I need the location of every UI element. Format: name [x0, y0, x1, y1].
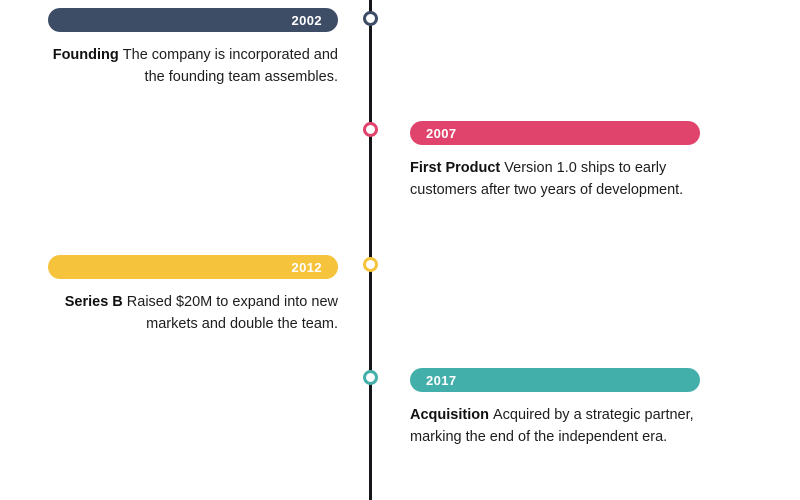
year-label: 2007 — [426, 127, 457, 140]
timeline-entry-2002[interactable]: 2002 Founding The company is incorporate… — [48, 8, 338, 88]
entry-body: Founding The company is incorporated and… — [48, 45, 338, 88]
timeline-entry-2007[interactable]: 2007 First Product Version 1.0 ships to … — [410, 121, 700, 201]
timeline-node-2002[interactable] — [363, 11, 378, 26]
entry-body: Series B Raised $20M to expand into new … — [48, 292, 338, 335]
entry-title: Series B — [65, 294, 127, 310]
entry-body: First Product Version 1.0 ships to early… — [410, 158, 700, 201]
year-pill-2017[interactable]: 2017 — [410, 368, 700, 392]
entry-body: Acquisition Acquired by a strategic part… — [410, 405, 700, 448]
year-label: 2012 — [291, 261, 322, 274]
year-label: 2002 — [291, 14, 322, 27]
year-pill-2012[interactable]: 2012 — [48, 255, 338, 279]
entry-title: First Product — [410, 160, 504, 176]
year-pill-2007[interactable]: 2007 — [410, 121, 700, 145]
timeline-axis — [369, 0, 372, 500]
year-label: 2017 — [426, 374, 457, 387]
year-pill-2002[interactable]: 2002 — [48, 8, 338, 32]
entry-description: The company is incorporated and the foun… — [123, 47, 338, 85]
timeline-node-2007[interactable] — [363, 122, 378, 137]
entry-title: Acquisition — [410, 407, 493, 423]
timeline-entry-2017[interactable]: 2017 Acquisition Acquired by a strategic… — [410, 368, 700, 448]
timeline-entry-2012[interactable]: 2012 Series B Raised $20M to expand into… — [48, 255, 338, 335]
entry-title: Founding — [53, 47, 123, 63]
timeline-node-2012[interactable] — [363, 257, 378, 272]
entry-description: Raised $20M to expand into new markets a… — [127, 294, 338, 332]
timeline-node-2017[interactable] — [363, 370, 378, 385]
